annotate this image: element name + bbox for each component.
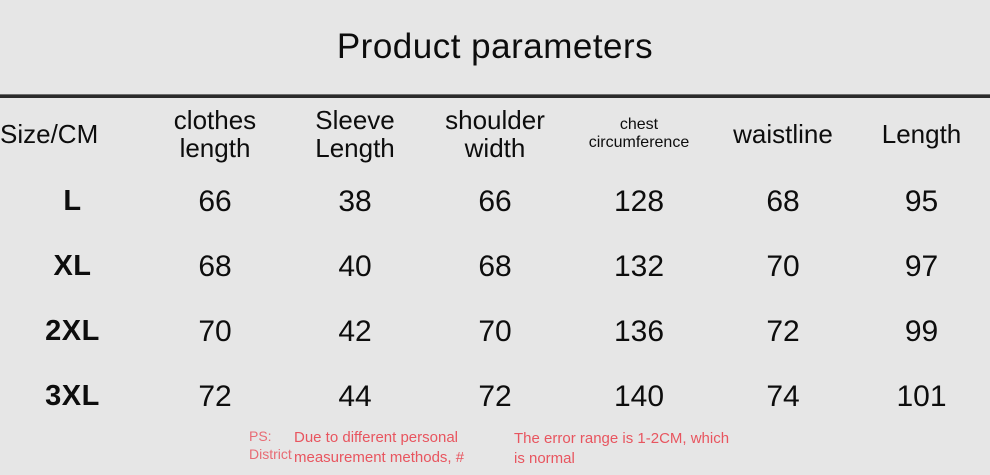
cell-length: 99 [853,315,990,349]
column-header-clothes-length-label: clothes length [174,106,256,162]
cell-shoulder-width: 72 [425,380,565,414]
cell-waistline: 70 [713,250,853,284]
column-header-waistline: waistline [713,120,853,148]
cell-sleeve-length: 44 [285,380,425,414]
title-bar: Product parameters [0,0,990,94]
footnote-ps-label: PS: District [249,428,292,463]
cell-chest-circumference: 132 [565,250,713,284]
column-header-length-label: Length [882,120,962,148]
column-header-length: Length [853,120,990,148]
title-divider [0,94,990,98]
cell-clothes-length: 68 [145,250,285,284]
table-header-row: Size/CM clothes length Sleeve Length sho… [0,99,990,169]
cell-chest-circumference: 140 [565,380,713,414]
cell-size: 3XL [0,380,145,413]
cell-shoulder-width: 70 [425,315,565,349]
footnote-measurement-note: Due to different personal measurement me… [294,428,464,469]
cell-chest-circumference: 128 [565,185,713,219]
table-row: 3XL 72 44 72 140 74 101 [0,364,990,429]
column-header-sleeve-length-label: Sleeve Length [315,106,395,162]
column-header-size: Size/CM [0,120,145,148]
cell-clothes-length: 66 [145,185,285,219]
cell-clothes-length: 70 [145,315,285,349]
cell-waistline: 72 [713,315,853,349]
column-header-chest-circumference: chest circumference [565,116,713,152]
column-header-shoulder-width: shoulder width [425,106,565,162]
page-title: Product parameters [337,27,653,67]
cell-length: 95 [853,185,990,219]
cell-waistline: 74 [713,380,853,414]
column-header-chest-circumference-label: chest circumference [589,116,689,152]
table-row: L 66 38 66 128 68 95 [0,169,990,234]
column-header-waistline-label: waistline [733,120,833,148]
table-row: 2XL 70 42 70 136 72 99 [0,299,990,364]
column-header-size-label: Size/CM [0,120,98,148]
footnote-area: PS: District Due to different personal m… [0,425,990,475]
table-row: XL 68 40 68 132 70 97 [0,234,990,299]
cell-sleeve-length: 42 [285,315,425,349]
cell-size: L [0,185,145,218]
size-chart-table: Size/CM clothes length Sleeve Length sho… [0,99,990,429]
cell-size: 2XL [0,315,145,348]
cell-shoulder-width: 66 [425,185,565,219]
column-header-sleeve-length: Sleeve Length [285,106,425,162]
cell-length: 101 [853,380,990,414]
cell-waistline: 68 [713,185,853,219]
cell-sleeve-length: 38 [285,185,425,219]
cell-sleeve-length: 40 [285,250,425,284]
cell-length: 97 [853,250,990,284]
product-parameters-sheet: Product parameters Size/CM clothes lengt… [0,0,990,475]
cell-size: XL [0,250,145,283]
footnote-error-range-note: The error range is 1-2CM, which is norma… [514,429,729,470]
column-header-clothes-length: clothes length [145,106,285,162]
column-header-shoulder-width-label: shoulder width [445,106,545,162]
cell-shoulder-width: 68 [425,250,565,284]
cell-clothes-length: 72 [145,380,285,414]
cell-chest-circumference: 136 [565,315,713,349]
